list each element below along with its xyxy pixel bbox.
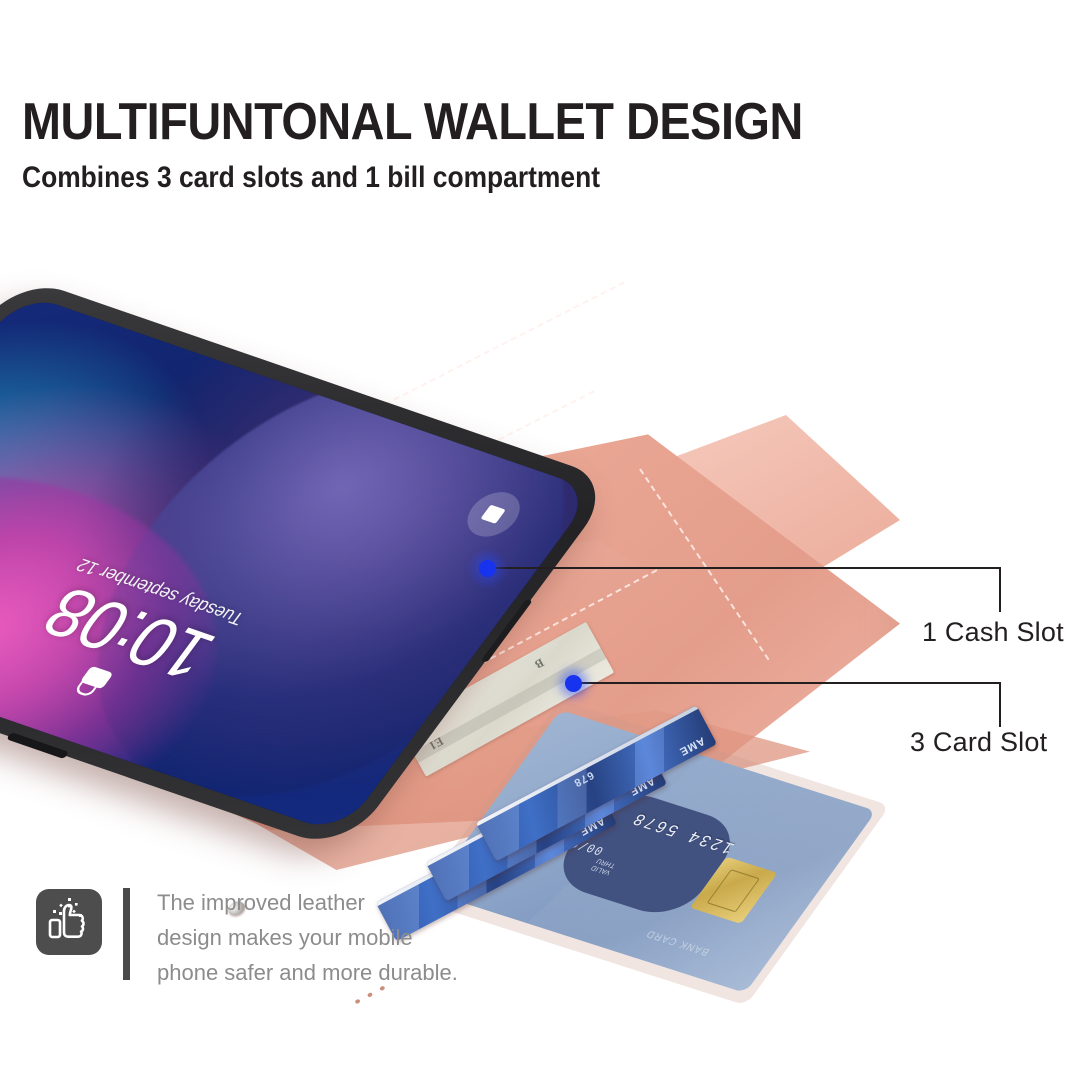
- feature-text: The improved leather design makes your m…: [157, 885, 458, 990]
- feature-divider: [123, 888, 130, 980]
- product-infographic: MULTIFUNTONAL WALLET DESIGN Combines 3 c…: [0, 0, 1080, 1080]
- thumbs-up-sparkle-icon: [36, 889, 102, 955]
- header: MULTIFUNTONAL WALLET DESIGN Combines 3 c…: [22, 95, 1022, 195]
- feature-block: The improved leather design makes your m…: [36, 885, 458, 990]
- page-title: MULTIFUNTONAL WALLET DESIGN: [22, 95, 922, 149]
- product-photo: E1 B BANK CARD VALIDTHRU 00/00 1234 5678…: [0, 240, 920, 860]
- callout-label-cash-slot: 1 Cash Slot: [922, 617, 1064, 648]
- lock-icon: [72, 666, 113, 700]
- banknote-mark-b: B: [532, 655, 546, 672]
- feature-text-line: design makes your mobile: [157, 920, 458, 955]
- thumbs-up-glyph: [44, 896, 94, 948]
- callout-label-card-slot: 3 Card Slot: [910, 727, 1047, 758]
- flashlight-glyph: [481, 505, 506, 524]
- feature-text-line: The improved leather: [157, 885, 458, 920]
- feature-text-line: phone safer and more durable.: [157, 955, 458, 990]
- page-subtitle: Combines 3 card slots and 1 bill compart…: [22, 161, 902, 195]
